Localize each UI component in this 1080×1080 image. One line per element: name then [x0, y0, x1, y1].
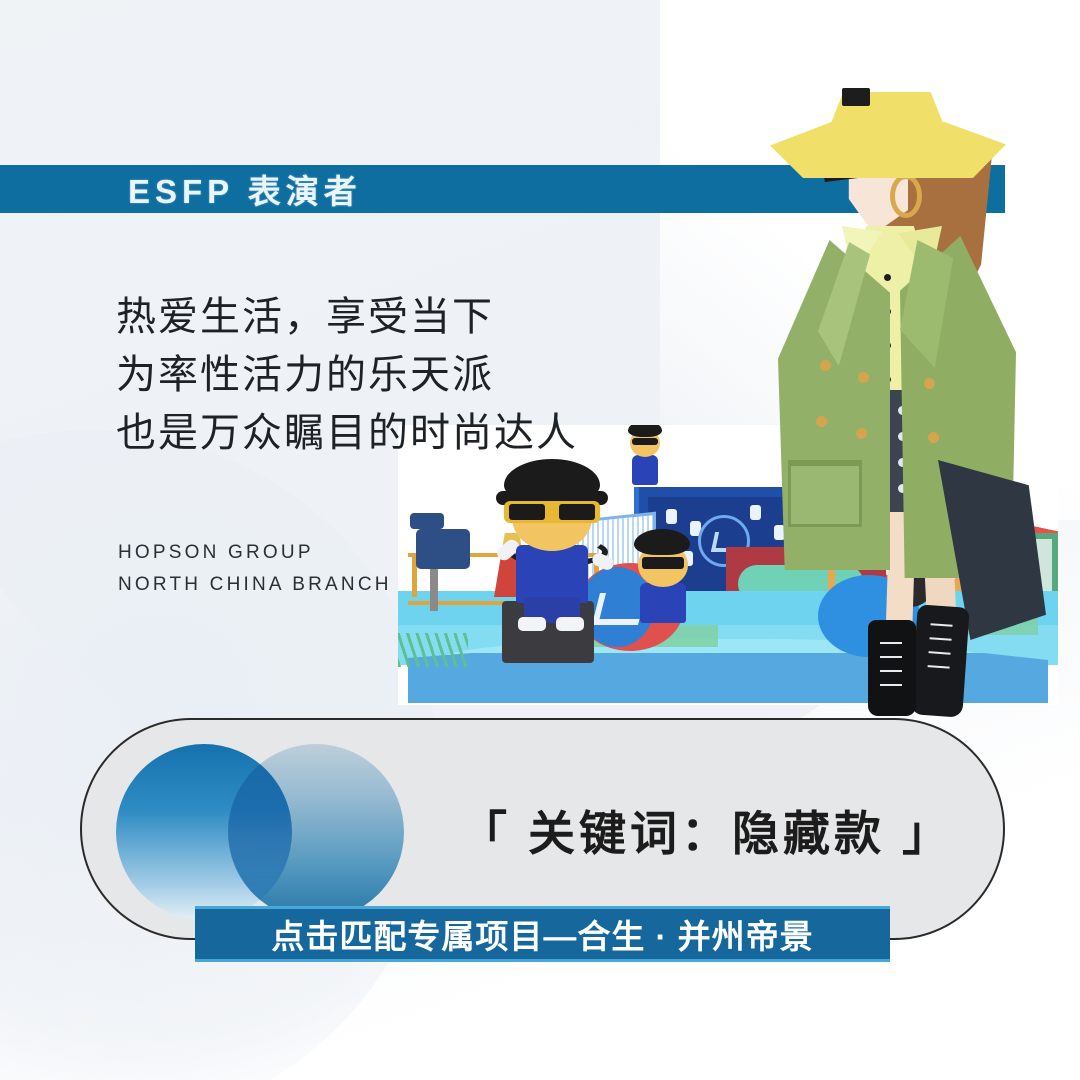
boot-lace [928, 665, 950, 669]
boot-lace [929, 651, 951, 655]
toon-body [640, 583, 686, 623]
toon-shoe-right [556, 617, 584, 631]
toon-arm-right [590, 551, 615, 572]
woman-shirt-button [884, 274, 891, 281]
tagline-line-3: 也是万众瞩目的时尚达人 [116, 404, 578, 462]
brand-block: HOPSON GROUP NORTH CHINA BRANCH [118, 537, 392, 601]
tagline-line-2: 为率性活力的乐天派 [116, 346, 578, 404]
boot-lace [929, 637, 951, 641]
boot-lace [880, 684, 902, 686]
tagline-line-1: 热爱生活，享受当下 [116, 288, 578, 346]
palm-plant [398, 633, 468, 667]
boot-lace [880, 656, 902, 658]
toon-body [632, 455, 658, 485]
fashion-woman-illustration [760, 60, 1080, 720]
boot-lace [880, 670, 902, 672]
woman-coat-button [924, 378, 935, 389]
keyword-label: 「 关键词：隐藏款 」 [460, 795, 960, 864]
woman-hat-brim [770, 122, 1006, 178]
brand-circle-right [228, 744, 404, 920]
sunglasses-icon [642, 557, 684, 569]
woman-boot-left [868, 620, 916, 716]
woman-coat-button [928, 432, 939, 443]
cta-button[interactable]: 点击匹配专属项目—合生 · 并州帝景 [195, 906, 890, 962]
woman-coat-pocket [788, 460, 862, 527]
toon-performer-main [490, 459, 612, 629]
boot-lace [930, 623, 952, 627]
woman-coat-button [856, 428, 867, 439]
woman-coat-button [858, 372, 869, 383]
confetti-dot [666, 509, 677, 524]
cta-label: 点击匹配专属项目—合生 · 并州帝景 [271, 910, 813, 958]
toon-performer-side [624, 529, 700, 633]
tagline-block: 热爱生活，享受当下 为率性活力的乐天派 也是万众瞩目的时尚达人 [116, 288, 578, 462]
toon-cap [634, 529, 690, 555]
page-title: ESFP 表演者 [128, 165, 362, 213]
toon-body [516, 545, 588, 603]
poster-canvas: ESFP 表演者 热爱生活，享受当下 为率性活力的乐天派 也是万众瞩目的时尚达人… [0, 0, 1080, 1080]
woman-coat-button [816, 416, 827, 427]
woman-earring [890, 174, 922, 218]
sunglasses-icon [504, 501, 600, 523]
woman-hat-band [842, 88, 870, 106]
woman-coat-button [820, 360, 831, 371]
brand-line-1: HOPSON GROUP [118, 537, 392, 569]
brand-line-2: NORTH CHINA BRANCH [118, 569, 392, 601]
woman-boot-right [910, 604, 970, 717]
boot-lace [880, 642, 902, 644]
sunglasses-icon [632, 438, 658, 445]
toon-performer-top [620, 425, 670, 493]
camera-prop [416, 529, 470, 569]
toon-shoe-left [518, 617, 546, 631]
toon-cap [628, 425, 662, 437]
